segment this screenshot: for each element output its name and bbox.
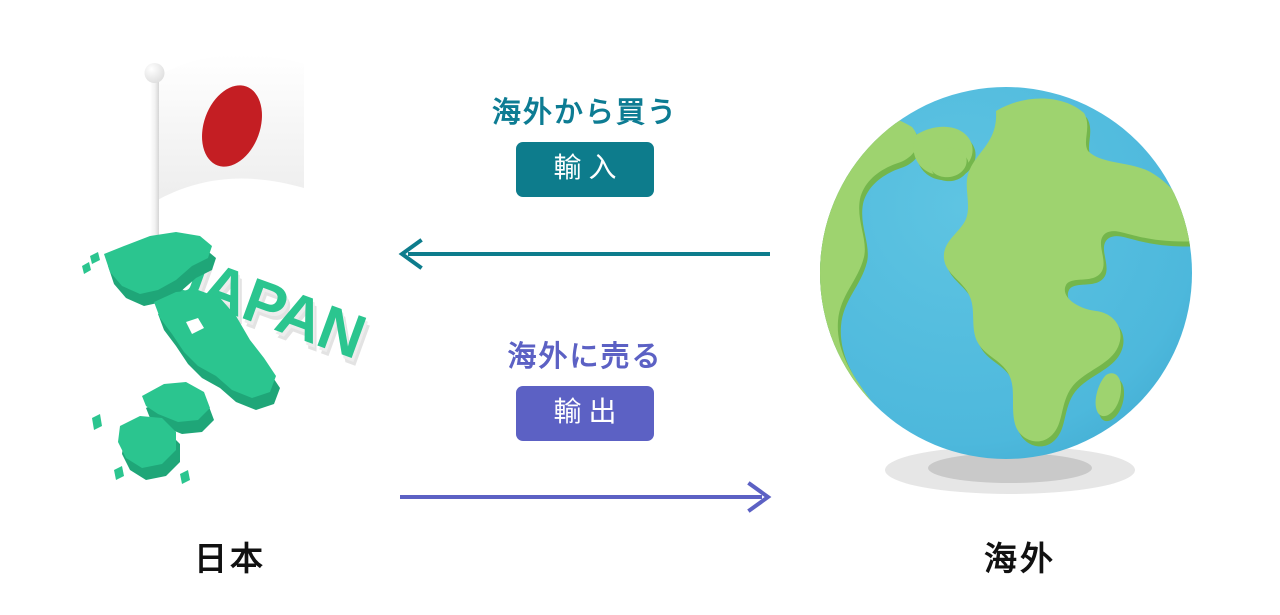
export-caption-highlight: に <box>569 342 600 374</box>
import-badge: 輸入 <box>516 142 653 197</box>
label-japan: 日本 <box>95 532 365 580</box>
export-caption-part1: 海外 <box>507 341 569 373</box>
japan-map-with-flag: JAPAN JAPAN JAPAN <box>80 40 380 510</box>
import-caption: 海外から買う <box>375 98 795 130</box>
import-flow-group: 海外から買う 輸入 <box>375 98 795 197</box>
import-caption-part1: 海外 <box>492 97 554 129</box>
export-caption: 海外に売る <box>375 342 795 374</box>
earth-globe-icon <box>820 85 1220 495</box>
japan-flag-icon <box>154 55 304 202</box>
export-caption-part2: 売る <box>601 341 663 373</box>
import-caption-part2: 買う <box>616 97 678 129</box>
export-badge: 輸出 <box>516 386 653 441</box>
export-arrow <box>390 480 780 514</box>
import-caption-highlight: から <box>554 98 616 130</box>
diagram-canvas: JAPAN JAPAN JAPAN <box>0 0 1280 615</box>
import-arrow <box>390 237 780 271</box>
label-overseas: 海外 <box>885 532 1155 580</box>
export-flow-group: 海外に売る 輸出 <box>375 342 795 441</box>
